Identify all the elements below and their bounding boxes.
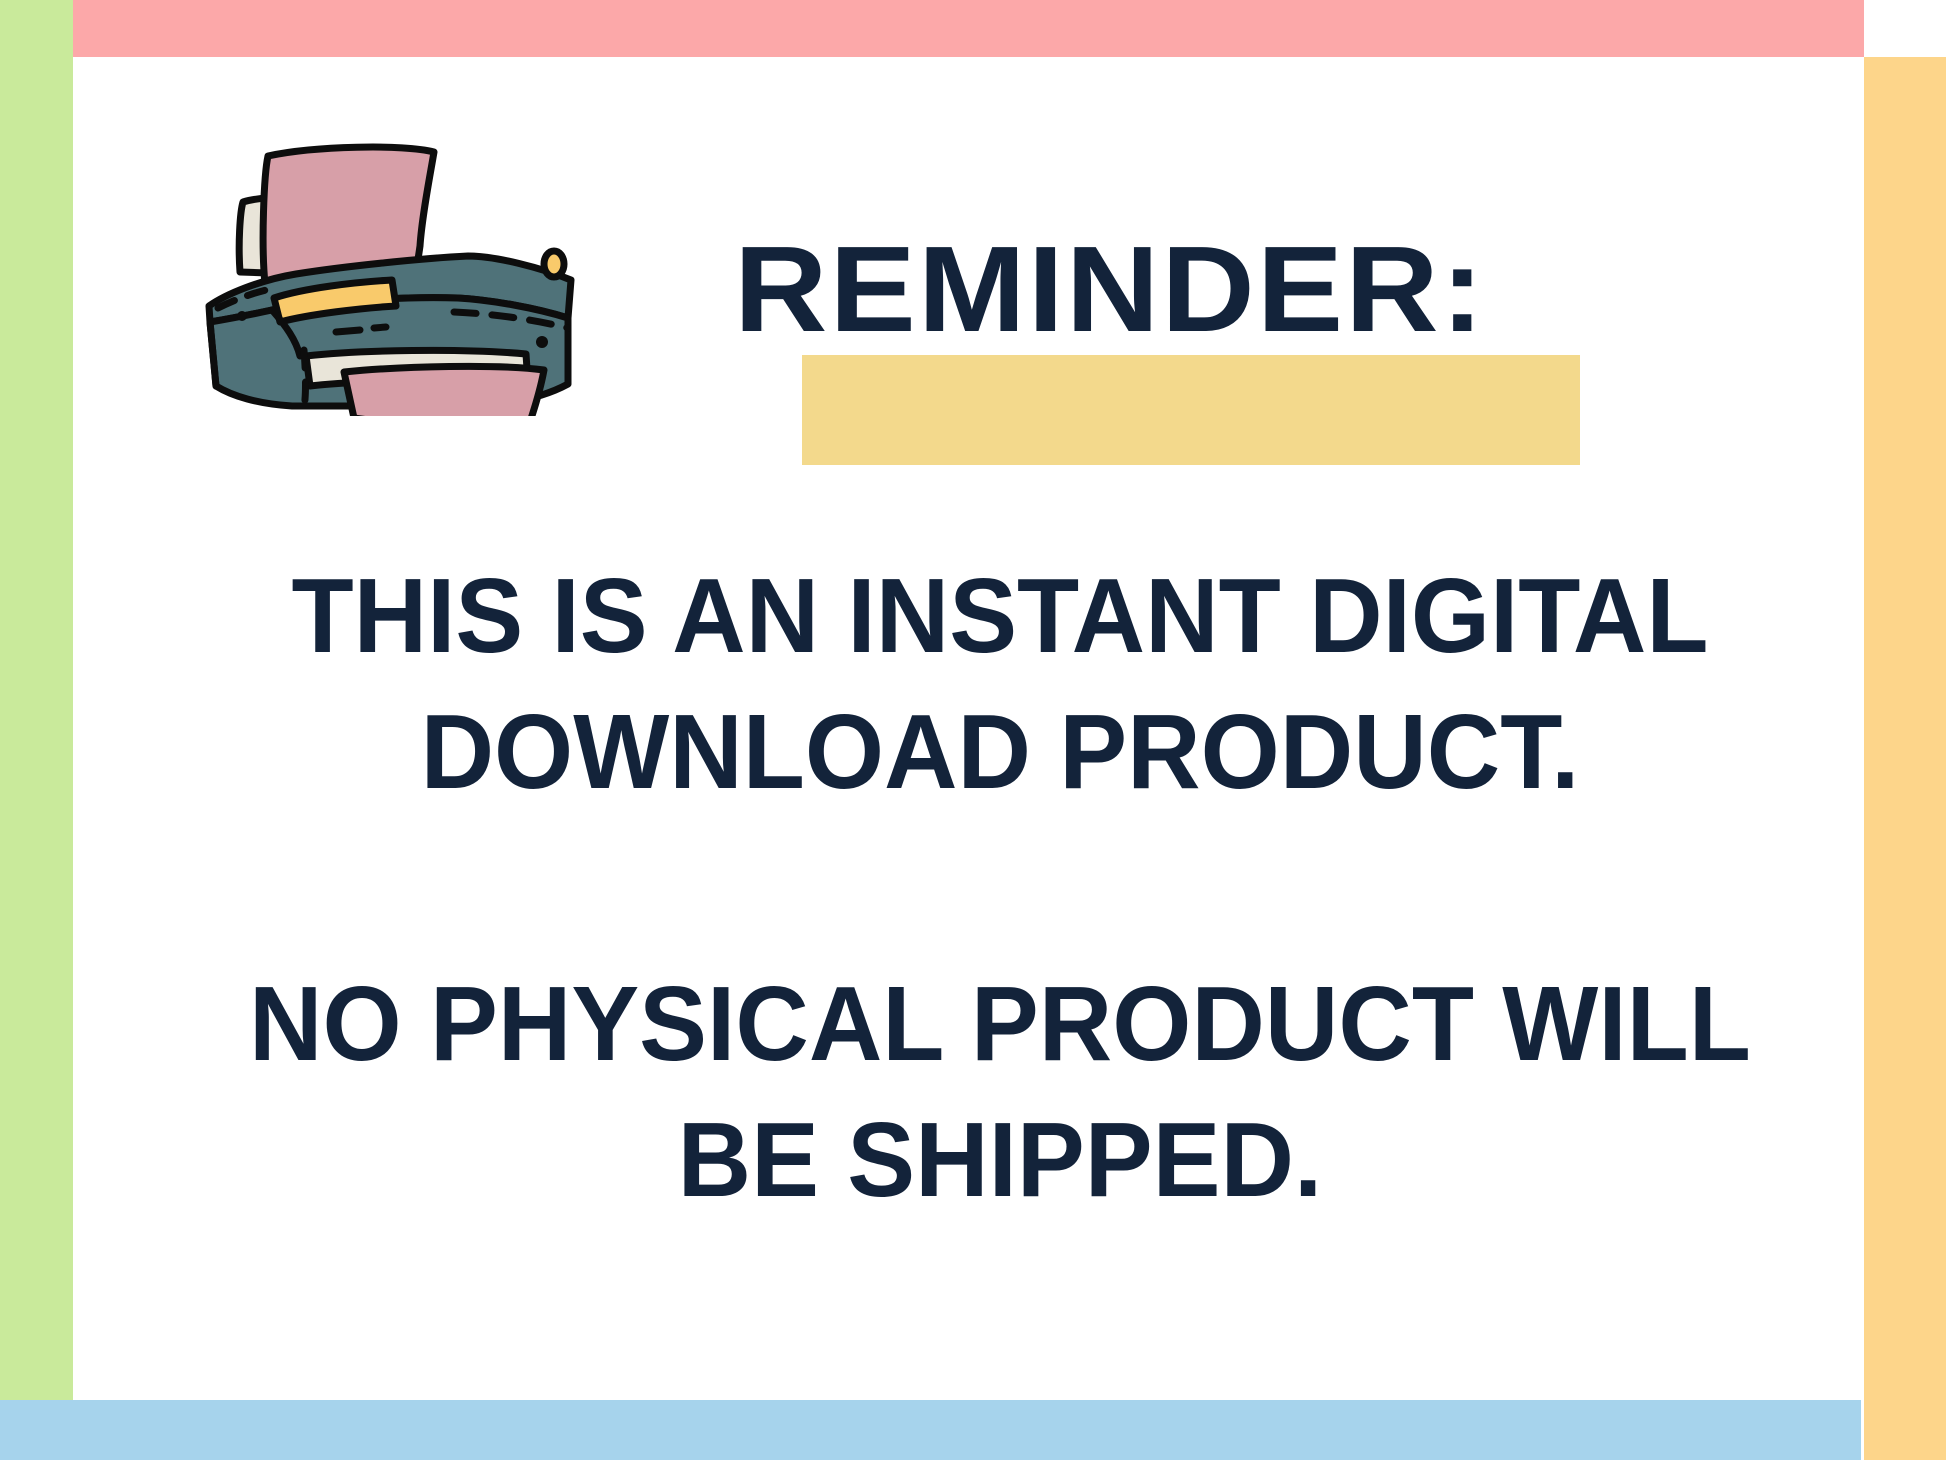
- body-line-spacer: [120, 820, 1880, 956]
- body-line-2: DOWNLOAD PRODUCT.: [155, 684, 1845, 820]
- body-line-3: NO PHYSICAL PRODUCT WILL: [155, 956, 1845, 1092]
- pink-top-border: [73, 0, 1864, 57]
- headline-highlight-bar: [802, 355, 1580, 465]
- green-left-border: [0, 0, 73, 1400]
- body-line-1: THIS IS AN INSTANT DIGITAL: [155, 548, 1845, 684]
- blue-bottom-border: [0, 1400, 1861, 1460]
- page-title: REMINDER:: [591, 228, 1630, 350]
- headline-block: REMINDER:: [620, 228, 1600, 478]
- printer-icon: [196, 104, 586, 416]
- body-copy: THIS IS AN INSTANT DIGITAL DOWNLOAD PROD…: [120, 548, 1880, 1228]
- reminder-poster: REMINDER: THIS IS AN INSTANT DIGITAL DOW…: [0, 0, 1946, 1460]
- body-line-4: BE SHIPPED.: [155, 1092, 1845, 1228]
